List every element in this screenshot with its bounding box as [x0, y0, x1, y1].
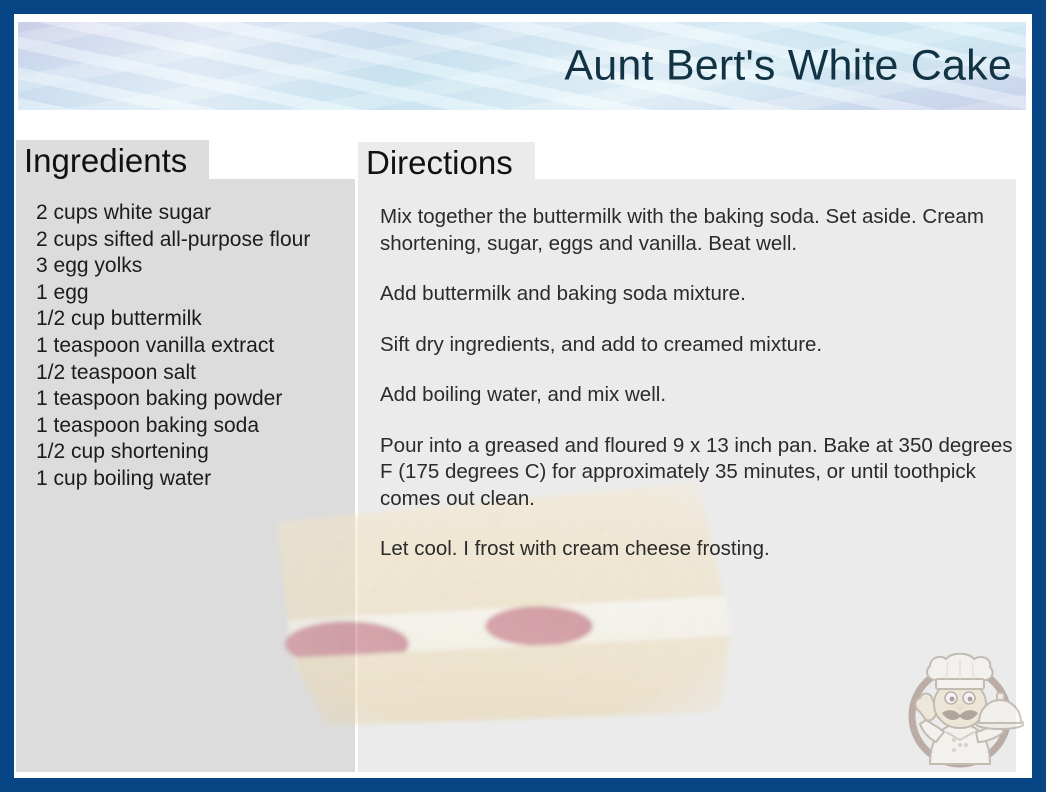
direction-step: Sift dry ingredients, and add to creamed…	[380, 332, 1026, 359]
ingredient-item: 1 teaspoon baking powder	[36, 386, 356, 413]
page-title: Aunt Bert's White Cake	[564, 42, 1012, 91]
ingredient-item: 1 cup boiling water	[36, 466, 356, 493]
direction-step: Add buttermilk and baking soda mixture.	[380, 281, 1026, 308]
ingredient-item: 1 egg	[36, 280, 356, 307]
ingredient-item: 1/2 cup buttermilk	[36, 306, 356, 333]
ingredient-item: 1 teaspoon baking soda	[36, 413, 356, 440]
direction-step: Let cool. I frost with cream cheese fros…	[380, 536, 1026, 563]
ingredient-item: 1/2 cup shortening	[36, 439, 356, 466]
ingredients-list: 2 cups white sugar2 cups sifted all-purp…	[36, 200, 356, 493]
recipe-card-inner: Aunt Bert's White Cake	[14, 14, 1032, 778]
directions-list: Mix together the buttermilk with the bak…	[380, 204, 1026, 587]
direction-step: Mix together the buttermilk with the bak…	[380, 204, 1026, 257]
recipe-card: Aunt Bert's White Cake	[0, 0, 1046, 792]
ingredient-item: 3 egg yolks	[36, 253, 356, 280]
ingredients-heading: Ingredients	[16, 140, 209, 185]
header-banner: Aunt Bert's White Cake	[18, 22, 1026, 110]
directions-heading: Directions	[358, 142, 535, 187]
ingredient-item: 2 cups sifted all-purpose flour	[36, 227, 356, 254]
ingredient-item: 2 cups white sugar	[36, 200, 356, 227]
direction-step: Pour into a greased and floured 9 x 13 i…	[380, 433, 1026, 513]
direction-step: Add boiling water, and mix well.	[380, 382, 1026, 409]
ingredient-item: 1/2 teaspoon salt	[36, 360, 356, 387]
ingredient-item: 1 teaspoon vanilla extract	[36, 333, 356, 360]
